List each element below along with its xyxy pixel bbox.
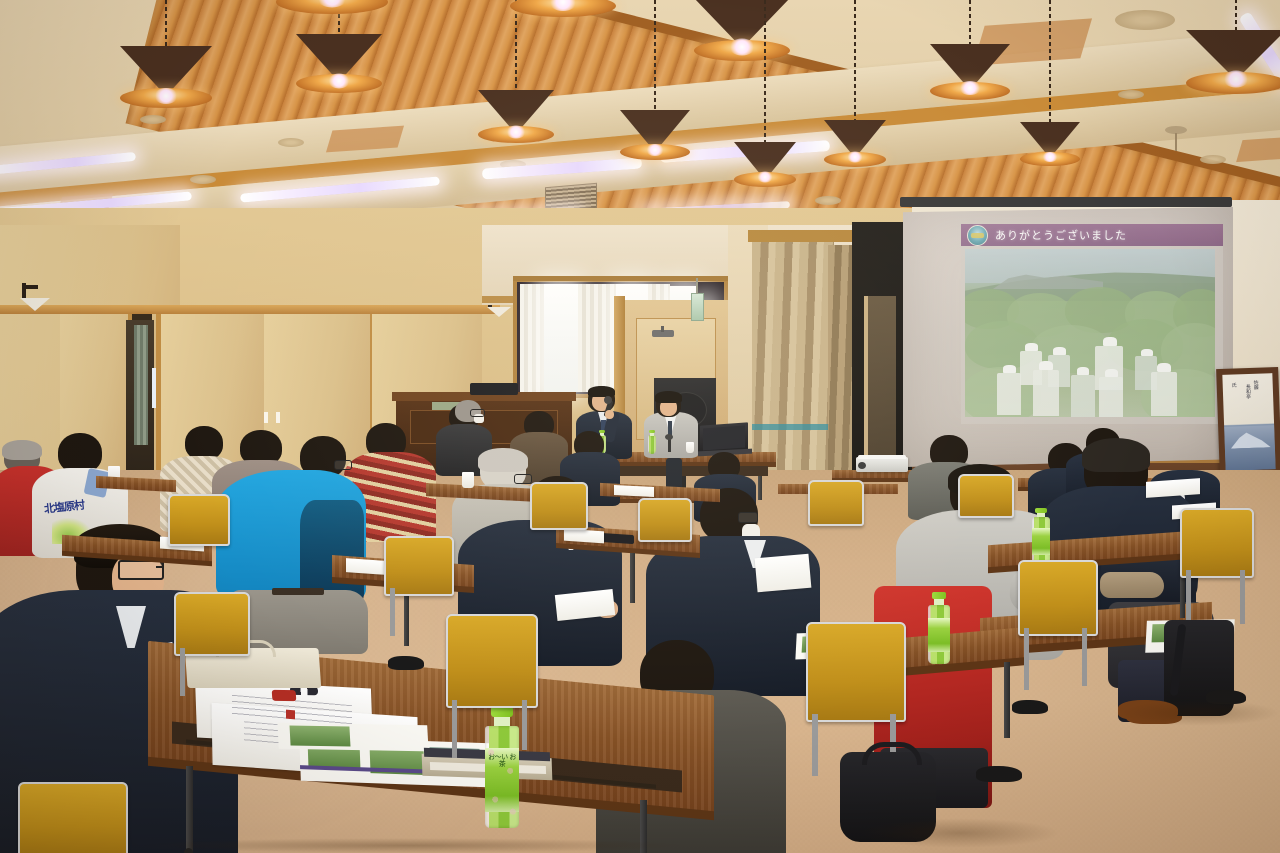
eyeglasses <box>514 474 532 484</box>
chair-leg <box>812 714 818 776</box>
wall-sconce-lamp <box>487 307 511 317</box>
handout-red-seal <box>286 710 295 720</box>
artwork-text: 氏 <box>1231 382 1237 412</box>
hanging-sign <box>691 293 704 321</box>
draped-cap <box>1100 572 1164 598</box>
lamp-bulb <box>154 88 178 104</box>
projection-screen: ありがとうございました <box>903 207 1233 467</box>
floor-shadow <box>130 838 690 853</box>
chair-leg <box>522 700 527 750</box>
chair[interactable] <box>1180 508 1254 578</box>
wall-sconce-lamp <box>20 298 50 311</box>
brochure-photo <box>290 725 351 746</box>
bag-handle <box>862 742 922 765</box>
laptop-screen <box>703 426 745 451</box>
projection-screen-casing <box>900 197 1232 207</box>
door-pull-handle[interactable] <box>264 412 268 423</box>
chair[interactable] <box>638 498 692 542</box>
chair-leg <box>180 648 185 696</box>
recessed-downlight <box>815 196 841 205</box>
handout-page <box>755 554 812 593</box>
tea-bottle <box>1032 508 1050 566</box>
tea-bottle-label <box>1032 528 1050 555</box>
bottle-body <box>648 435 656 454</box>
projector-mount-arm <box>661 326 664 332</box>
window-curtain <box>578 284 616 392</box>
chair[interactable] <box>446 614 538 708</box>
eyeglasses <box>334 460 352 470</box>
chair-leg <box>1240 570 1245 624</box>
attendee-hair-white <box>478 448 528 472</box>
recessed-downlight <box>278 138 304 147</box>
wall-beam <box>0 305 500 314</box>
presenter2-hair <box>655 391 682 403</box>
recessed-downlight <box>140 115 166 124</box>
attendee-head <box>58 433 102 473</box>
chair[interactable] <box>958 474 1014 518</box>
shoe <box>976 766 1022 782</box>
door-pull-handle[interactable] <box>276 412 280 423</box>
belt <box>272 588 324 595</box>
seminar-room-photo: ありがとうございました <box>0 0 1280 853</box>
floor-shadow <box>860 818 1060 848</box>
presenter-hair <box>588 386 615 397</box>
drape-band <box>752 424 834 430</box>
chair[interactable] <box>18 782 128 853</box>
bottle-cap <box>932 592 946 599</box>
projector-lens <box>858 462 866 469</box>
lamp-chain <box>165 0 167 48</box>
recessed-downlight <box>1200 155 1226 164</box>
chair-leg <box>390 588 395 636</box>
lamp-bulb <box>757 172 773 183</box>
recessed-downlight <box>190 175 216 184</box>
projector-top <box>858 455 906 459</box>
table-leg <box>1004 662 1010 738</box>
paper-cup <box>462 472 474 488</box>
handout-page <box>614 485 654 497</box>
lamp-bulb <box>729 39 755 56</box>
glasses-bridge <box>156 566 162 568</box>
chair[interactable] <box>530 482 588 530</box>
framed-artwork: 佐藤 長和亭 氏 <box>1222 373 1275 471</box>
recessed-downlight <box>1118 90 1144 99</box>
tea-bottle-label <box>928 618 950 652</box>
ceiling-access-panel <box>1236 136 1280 162</box>
detector-stem <box>1175 133 1177 151</box>
eyeglasses-case <box>272 690 297 701</box>
chair[interactable] <box>808 480 864 526</box>
lamp-bulb <box>506 126 526 139</box>
presenter-hand <box>605 410 614 419</box>
shoe <box>1012 700 1048 714</box>
chair-leg <box>1082 628 1087 686</box>
lamp-chain <box>515 0 517 92</box>
microphone-head <box>604 396 612 404</box>
stage-drape <box>752 236 834 488</box>
artwork-text: 長和亭 <box>1245 384 1251 422</box>
tea-bottle: お〜い お茶 <box>485 706 519 828</box>
hanging-sign-rod <box>696 278 698 294</box>
lamp-bulb <box>1042 152 1058 162</box>
recessed-downlight <box>1115 10 1175 30</box>
doorway-curtain <box>134 325 148 445</box>
screen-glare <box>903 207 1233 467</box>
lamp-chain <box>854 0 856 122</box>
lamp-bulb <box>959 81 981 95</box>
attendee-hair-dark <box>1082 438 1150 472</box>
lamp-chain <box>654 0 656 112</box>
lamp-chain <box>1235 0 1237 32</box>
desk-microphone-head <box>665 434 673 440</box>
chair[interactable] <box>384 536 454 596</box>
paper-cup <box>686 442 694 453</box>
lamp-bulb <box>1223 71 1249 88</box>
attendee-head <box>185 426 223 460</box>
tea-bottle <box>928 592 950 664</box>
chair-leg <box>1024 628 1029 690</box>
bottle-cap <box>649 430 655 433</box>
lamp-chain <box>1049 0 1051 124</box>
lamp-bulb <box>328 74 350 89</box>
sconce-post <box>22 283 26 299</box>
desk-microphone-stand <box>668 438 671 452</box>
tea-bottle <box>648 430 656 454</box>
equipment-case <box>470 383 518 395</box>
lamp-bulb <box>847 152 863 163</box>
table-leg <box>630 553 635 603</box>
eyeglasses <box>470 409 485 417</box>
table-leg <box>404 588 409 646</box>
chair[interactable] <box>806 622 906 722</box>
chair[interactable] <box>174 592 250 656</box>
artwork-text: 佐藤 <box>1253 380 1260 424</box>
window-glass <box>544 284 578 392</box>
chair-leg <box>452 700 457 758</box>
drape-valance <box>748 230 856 242</box>
window-curtain <box>520 284 544 392</box>
ceiling <box>0 0 1280 215</box>
stage-drape <box>828 245 852 485</box>
bottle-sakura-pattern <box>485 726 519 828</box>
bottle-cap <box>599 430 605 433</box>
table-leg <box>758 476 762 500</box>
attendee-hair-grey <box>2 440 42 460</box>
lamp-chain <box>969 0 971 46</box>
shoe <box>388 656 424 670</box>
lamp-bulb <box>646 144 664 156</box>
eyeglasses <box>738 512 758 523</box>
chair[interactable] <box>1018 560 1098 636</box>
floor-shadow <box>1120 700 1280 726</box>
eyeglasses[interactable] <box>118 560 164 580</box>
chair[interactable] <box>168 494 230 546</box>
lamp-chain <box>764 0 766 144</box>
